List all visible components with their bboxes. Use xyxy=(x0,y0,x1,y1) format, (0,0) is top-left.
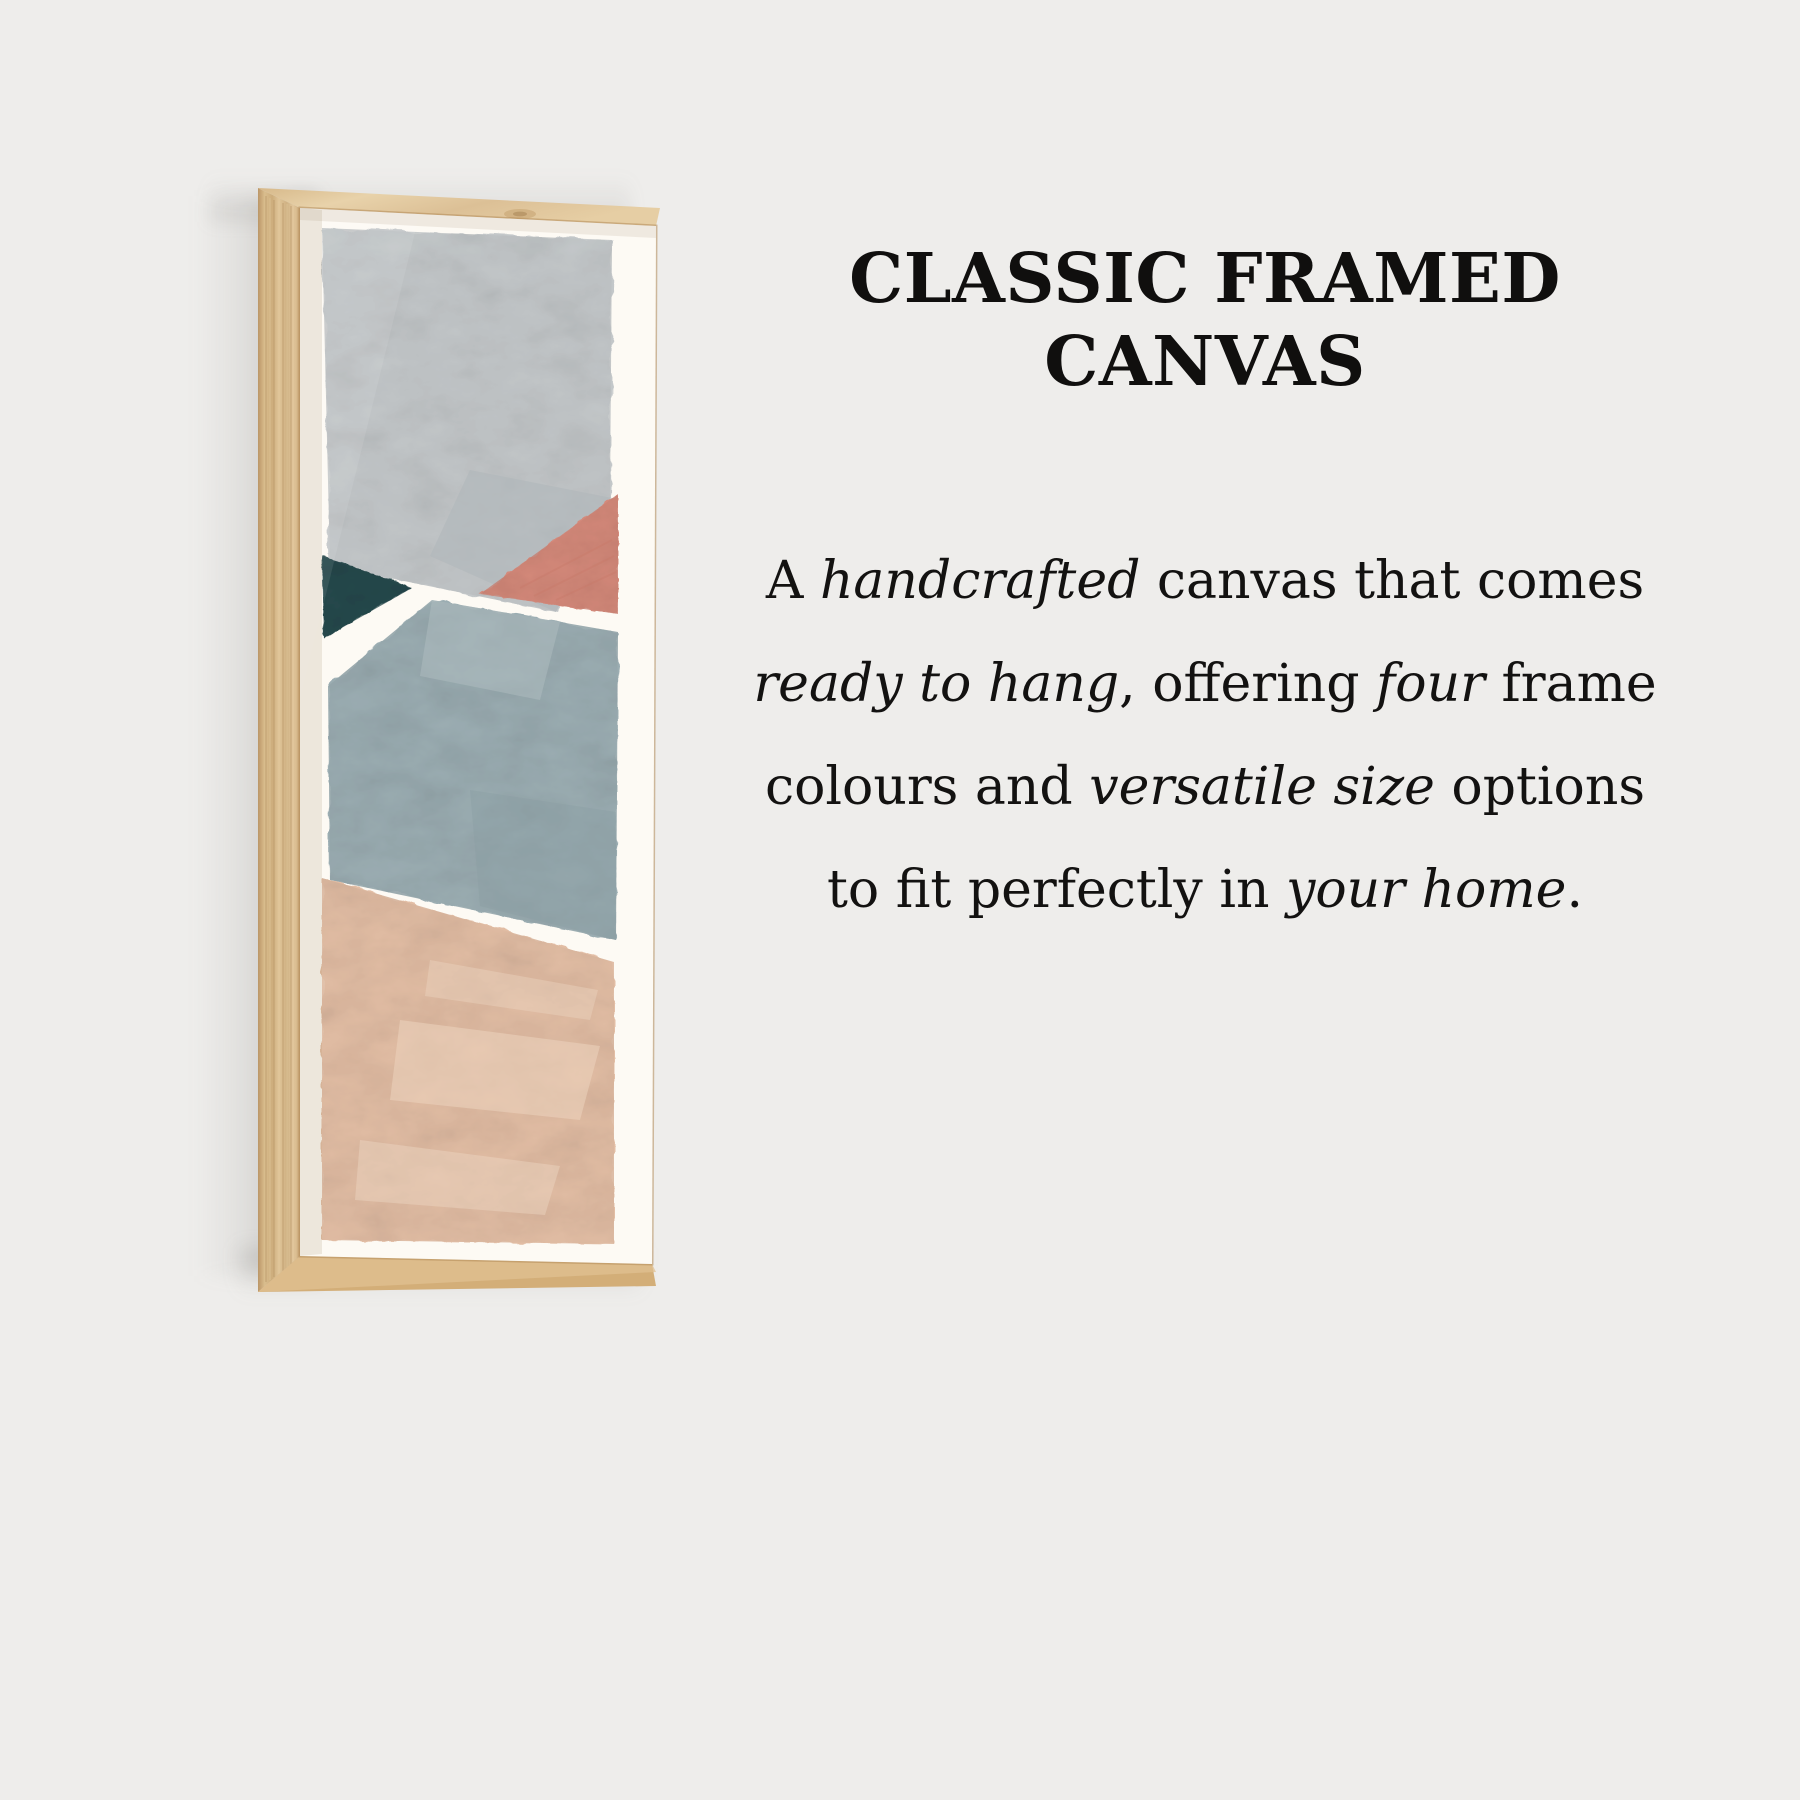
blurb-seg-6: . xyxy=(1566,860,1583,920)
blurb-emphasis-versatile-size: versatile size xyxy=(1089,757,1435,817)
blurb-seg-3: , offering xyxy=(1119,654,1376,714)
blurb-seg-2: canvas that comes xyxy=(1140,551,1644,611)
canvas-artwork xyxy=(290,200,670,1280)
product-mockup xyxy=(0,0,760,1800)
headline-line-2: CANVAS xyxy=(735,321,1675,404)
product-description: A handcrafted canvas that comes ready to… xyxy=(745,530,1665,942)
framed-canvas-svg xyxy=(0,0,760,1800)
page-title: CLASSIC FRAMED CANVAS xyxy=(735,238,1675,404)
blurb-seg-1: A xyxy=(766,551,820,611)
copy-column: CLASSIC FRAMED CANVAS A handcrafted canv… xyxy=(735,0,1735,1800)
blurb-emphasis-four: four xyxy=(1376,654,1485,714)
blurb-emphasis-handcrafted: handcrafted xyxy=(820,551,1140,611)
blurb-emphasis-your-home: your home xyxy=(1286,860,1566,920)
headline-line-1: CLASSIC FRAMED xyxy=(849,239,1561,319)
blurb-emphasis-ready-to-hang: ready to hang xyxy=(753,654,1119,714)
